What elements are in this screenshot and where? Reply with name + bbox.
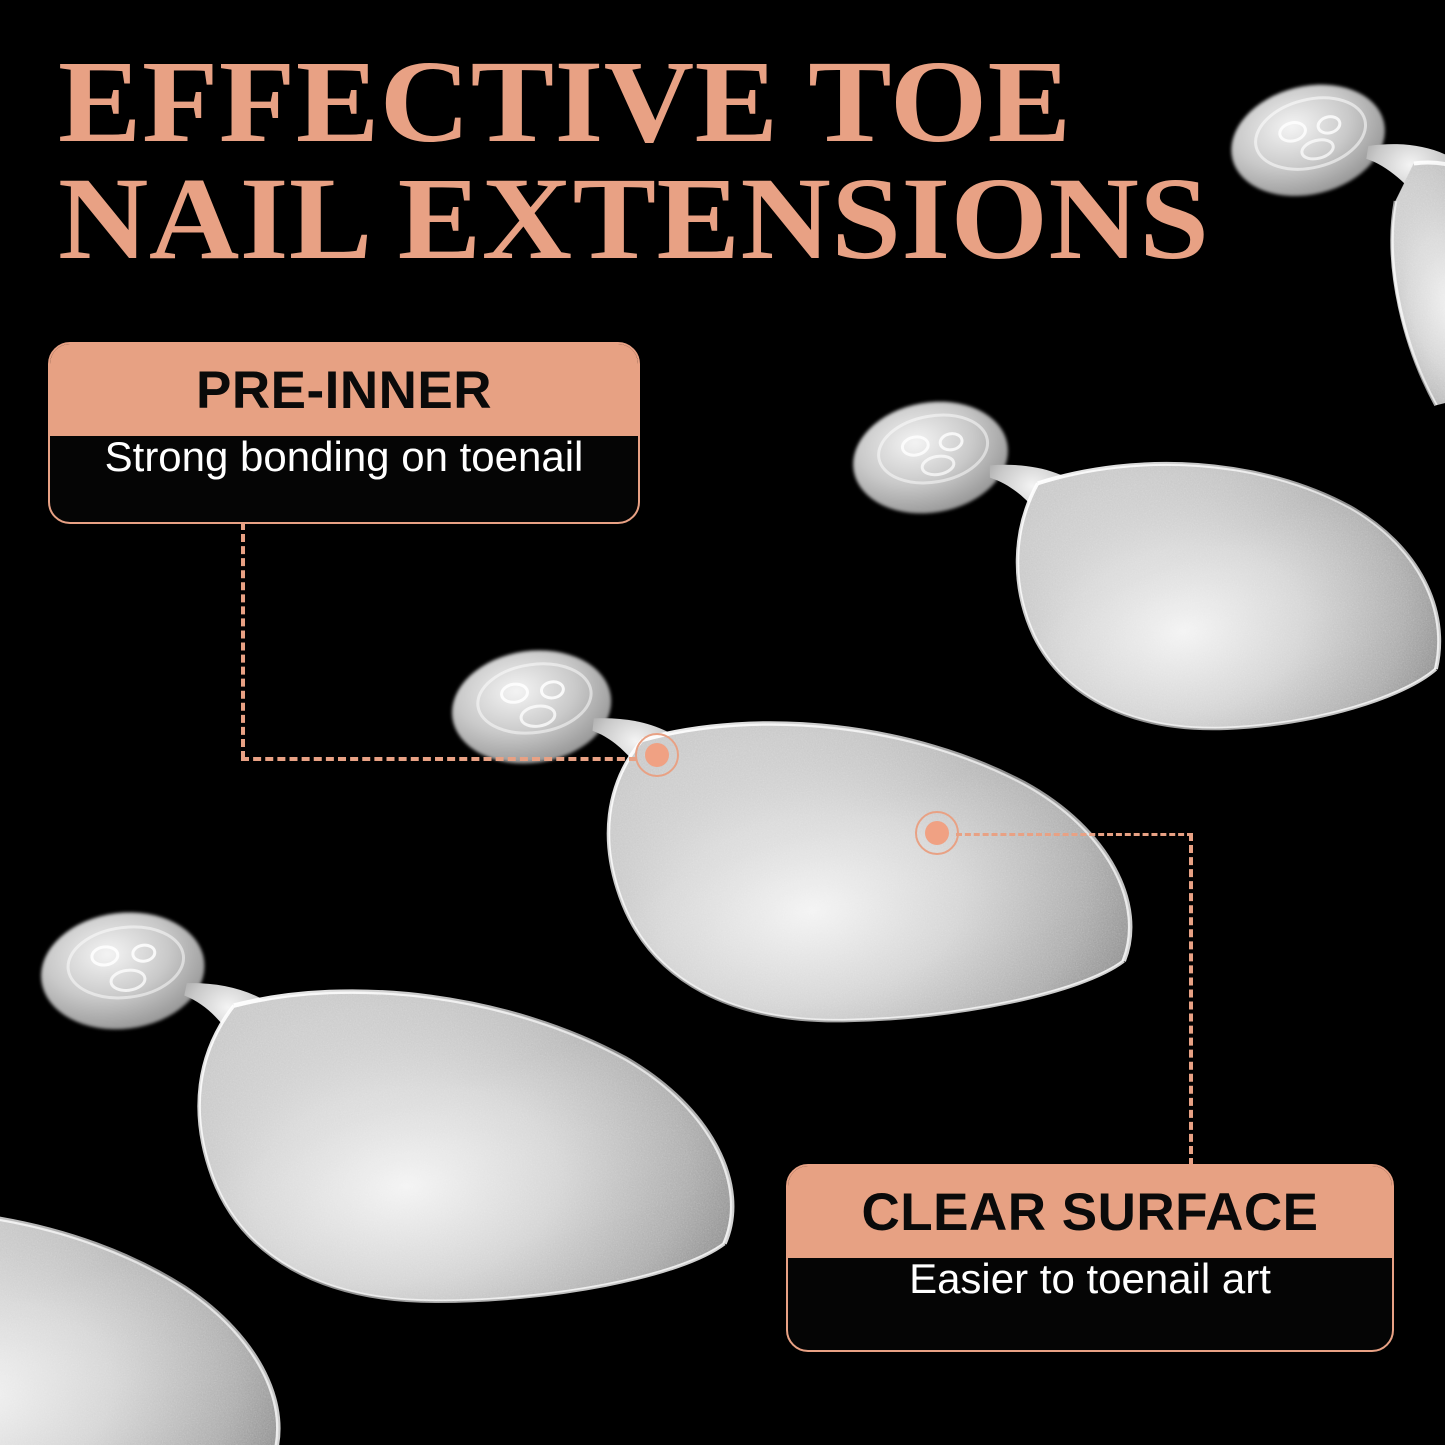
headline-line-2: NAIL EXTENSIONS [58,161,1209,278]
connector-pre-inner-horizontal [241,757,637,761]
page-title: EFFECTIVE TOE NAIL EXTENSIONS [58,44,1144,278]
headline-line-1: EFFECTIVE TOE [58,44,1209,161]
connector-pre-inner-vertical [241,522,245,759]
marker-dot-icon [645,743,669,767]
infographic-canvas: EFFECTIVE TOE NAIL EXTENSIONS PRE-INNER … [0,0,1445,1445]
marker-pre-inner [635,733,679,777]
connector-clear-surface-vertical [1189,833,1193,1166]
feature-title-pre-inner: PRE-INNER [50,344,638,436]
nail-tip-icon [0,1180,380,1445]
feature-title-clear-surface: CLEAR SURFACE [788,1166,1392,1258]
marker-clear-surface [915,811,959,855]
feature-card-pre-inner[interactable]: PRE-INNER Strong bonding on toenail [48,342,640,524]
connector-clear-surface-horizontal [956,833,1193,836]
feature-subtitle-pre-inner: Strong bonding on toenail [50,436,638,488]
feature-subtitle-clear-surface: Easier to toenail art [788,1258,1392,1310]
feature-card-clear-surface[interactable]: CLEAR SURFACE Easier to toenail art [786,1164,1394,1352]
marker-dot-icon [925,821,949,845]
